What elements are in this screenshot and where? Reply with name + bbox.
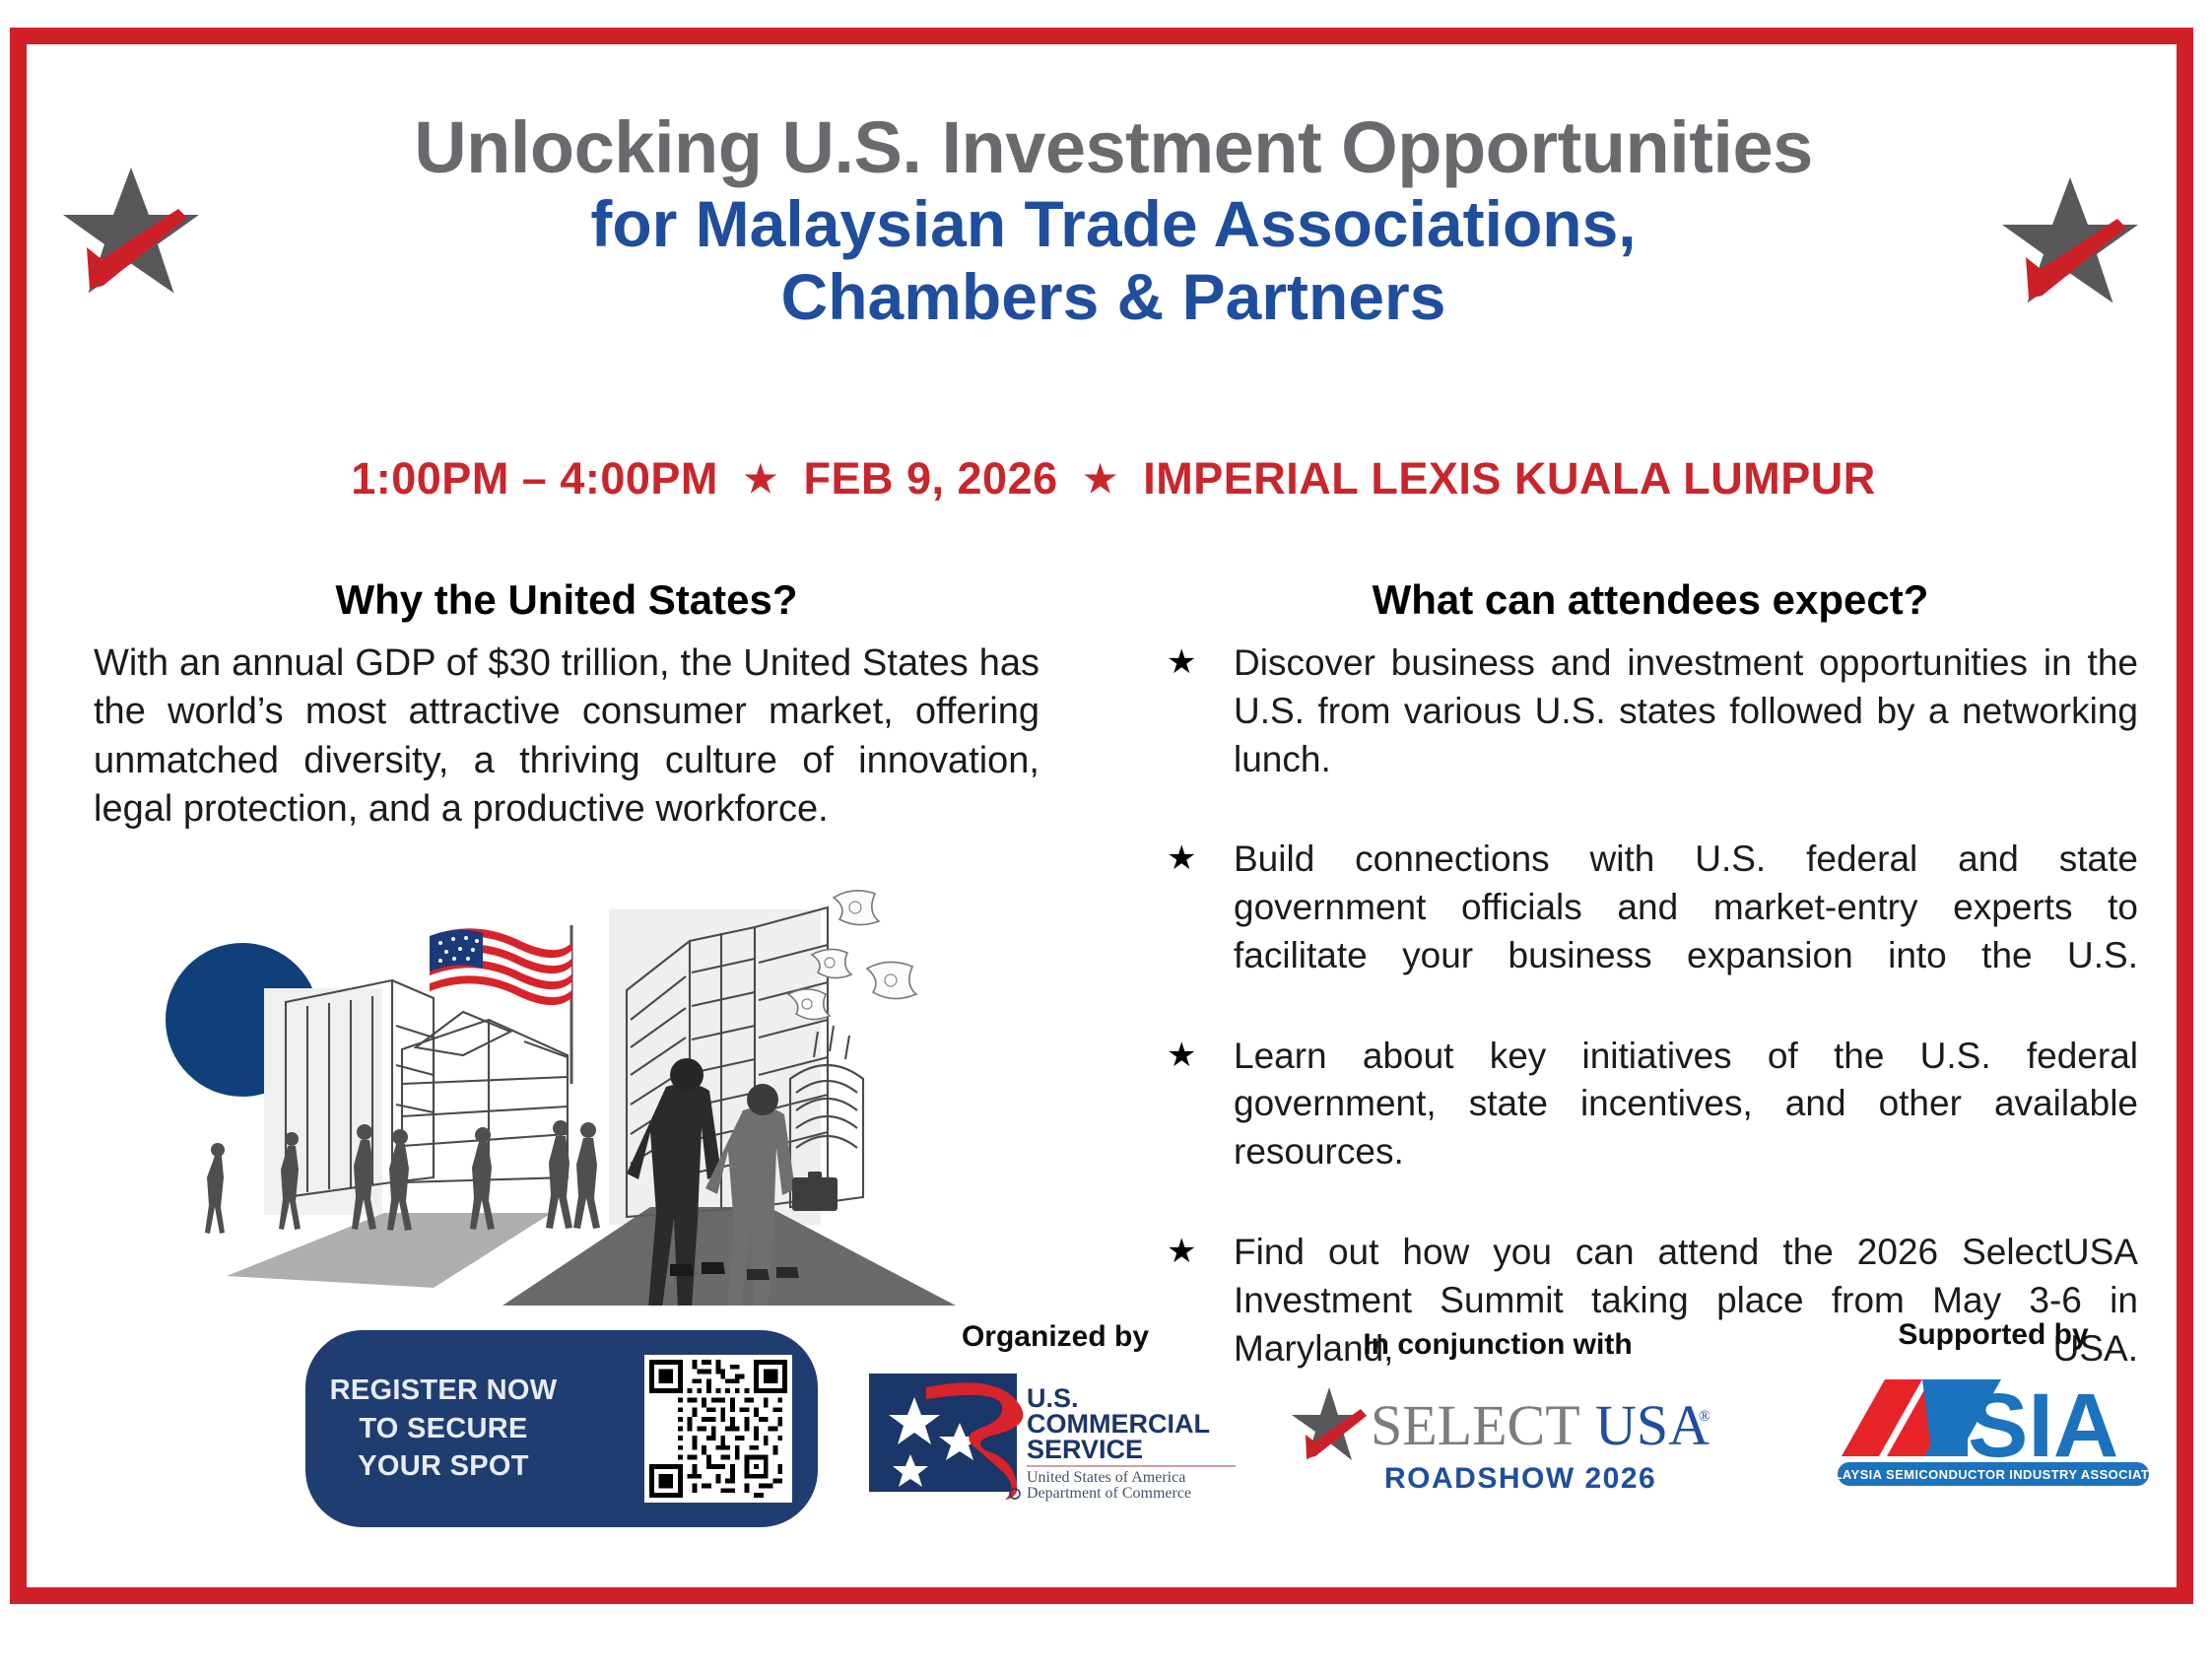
star-bullet-icon: ★ bbox=[1163, 639, 1234, 686]
flyer-page: Unlocking U.S. Investment Opportunities … bbox=[0, 0, 2212, 1676]
left-column-heading: Why the United States? bbox=[94, 576, 1039, 624]
selectusa-star-icon-left bbox=[57, 156, 205, 303]
why-united-states-section: Why the United States? With an annual GD… bbox=[94, 576, 1039, 835]
svg-text:Department of Commerce: Department of Commerce bbox=[1027, 1485, 1191, 1502]
svg-text:MALAYSIA SEMICONDUCTOR INDUSTR: MALAYSIA SEMICONDUCTOR INDUSTRY ASSOCIAT… bbox=[1824, 1467, 2163, 1482]
list-item: ★ Build connections with U.S. federal an… bbox=[1163, 836, 2138, 1028]
supported-by-label: Supported by bbox=[1811, 1318, 2176, 1352]
cta-line-2: TO SECURE bbox=[315, 1410, 571, 1448]
cta-line-3: YOUR SPOT bbox=[315, 1447, 571, 1486]
star-bullet-icon: ★ bbox=[1163, 1033, 1234, 1079]
cta-line-1: REGISTER NOW bbox=[315, 1372, 571, 1410]
supported-by-slot: Supported by SIA MALAYSIA SEMICONDUCTOR … bbox=[1811, 1318, 2176, 1492]
title-line-2: for Malaysian Trade Associations, bbox=[217, 188, 2010, 261]
city-illustration bbox=[138, 882, 956, 1306]
in-conjunction-with-slot: In conjunction with SELECT USA ® ROADSHO… bbox=[1281, 1328, 1714, 1500]
svg-text:SERVICE: SERVICE bbox=[1027, 1435, 1143, 1464]
selectusa-star-icon-right bbox=[1996, 166, 2144, 313]
svg-text:®: ® bbox=[1699, 1408, 1709, 1425]
star-separator-icon-2: ★ bbox=[1084, 457, 1118, 502]
list-item-text: Discover business and investment opportu… bbox=[1234, 639, 2138, 832]
right-column-heading: What can attendees expect? bbox=[1163, 576, 2138, 624]
event-details-bar: 1:00PM – 4:00PM★FEB 9, 2026★IMPERIAL LEX… bbox=[118, 453, 2109, 504]
title-line-3: Chambers & Partners bbox=[217, 261, 2010, 334]
event-venue: IMPERIAL LEXIS KUALA LUMPUR bbox=[1143, 453, 1876, 503]
list-item: ★ Learn about key initiatives of the U.S… bbox=[1163, 1033, 2138, 1225]
organized-by-slot: Organized by U.S. COMMERCIAL SERVICE Uni… bbox=[853, 1320, 1257, 1502]
star-bullet-icon: ★ bbox=[1163, 1229, 1234, 1275]
list-item-text: Learn about key initiatives of the U.S. … bbox=[1234, 1033, 2138, 1225]
title-line-1: Unlocking U.S. Investment Opportunities bbox=[217, 110, 2010, 184]
list-item-text: Build connections with U.S. federal and … bbox=[1234, 836, 2138, 1028]
svg-text:USA: USA bbox=[1595, 1393, 1709, 1457]
event-date: FEB 9, 2026 bbox=[803, 453, 1057, 503]
attendee-expectations-section: What can attendees expect? ★ Discover bu… bbox=[1163, 576, 2138, 1425]
headline-block: Unlocking U.S. Investment Opportunities … bbox=[217, 110, 2010, 334]
svg-text:United States of America: United States of America bbox=[1027, 1469, 1185, 1486]
register-cta-text: REGISTER NOW TO SECURE YOUR SPOT bbox=[315, 1372, 571, 1487]
registration-qr-code[interactable] bbox=[644, 1355, 792, 1503]
svg-text:SIA: SIA bbox=[1968, 1375, 2118, 1476]
msia-logo: SIA MALAYSIA SEMICONDUCTOR INDUSTRY ASSO… bbox=[1824, 1362, 2163, 1492]
svg-text:SELECT: SELECT bbox=[1371, 1393, 1580, 1457]
in-conjunction-with-label: In conjunction with bbox=[1281, 1328, 1714, 1362]
star-separator-icon-1: ★ bbox=[744, 457, 778, 502]
register-cta-button[interactable]: REGISTER NOW TO SECURE YOUR SPOT bbox=[305, 1330, 818, 1527]
list-item: ★ Discover business and investment oppor… bbox=[1163, 639, 2138, 832]
us-commercial-service-logo: U.S. COMMERCIAL SERVICE United States of… bbox=[869, 1364, 1241, 1502]
selectusa-roadshow-logo: SELECT USA ® ROADSHOW 2026 bbox=[1286, 1372, 1709, 1500]
svg-text:ROADSHOW 2026: ROADSHOW 2026 bbox=[1384, 1462, 1656, 1495]
star-bullet-icon: ★ bbox=[1163, 836, 1234, 882]
event-time: 1:00PM – 4:00PM bbox=[351, 453, 718, 503]
left-column-body: With an annual GDP of $30 trillion, the … bbox=[94, 639, 1039, 835]
expectations-list: ★ Discover business and investment oppor… bbox=[1163, 639, 2138, 1421]
organized-by-label: Organized by bbox=[853, 1320, 1257, 1354]
